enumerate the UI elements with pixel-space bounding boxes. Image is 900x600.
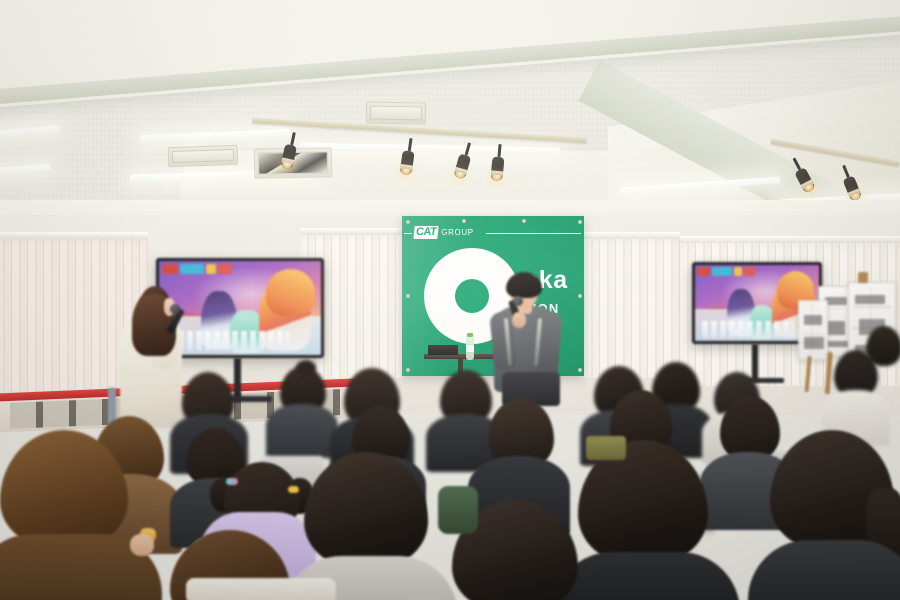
ceiling-vent [366,101,426,124]
audience-head [866,326,900,366]
host-microphone-head [170,304,180,314]
game-hud [162,264,232,274]
audience-hand [130,534,154,556]
audience-body-front [552,552,740,600]
ceiling-vent [168,145,239,167]
tote-bag [186,578,336,600]
speaker-microphone-head [513,296,523,306]
child-hair-tie-right [288,486,299,493]
easel-finial [858,272,868,283]
audience-body [266,404,338,458]
audience-body-front [748,540,900,600]
display-left-content [159,261,321,355]
display-right-stand-pole [752,344,758,382]
manga-board [798,300,828,360]
event-photo-scene: CAT GROUP saka ATION [0,0,900,600]
cat-logo-mark: CAT [413,226,439,239]
water-bottle-cap [467,333,473,337]
green-coat [438,486,478,534]
olive-bag [586,436,626,460]
cat-logo-word: GROUP [441,228,473,237]
mic-case [428,345,458,355]
audience-hair-bun [296,360,316,376]
cat-group-logo: CAT GROUP [414,226,474,239]
water-bottle-label [466,345,474,352]
banner-rule [486,233,581,234]
speaker-hand [512,312,526,328]
speaker-hair [506,272,542,298]
window-blinds-center-right [584,232,680,378]
game-hud [697,267,755,275]
banner-rule-left [404,233,412,234]
child-hair-tie-left [226,478,238,485]
track-spotlight [492,144,504,182]
